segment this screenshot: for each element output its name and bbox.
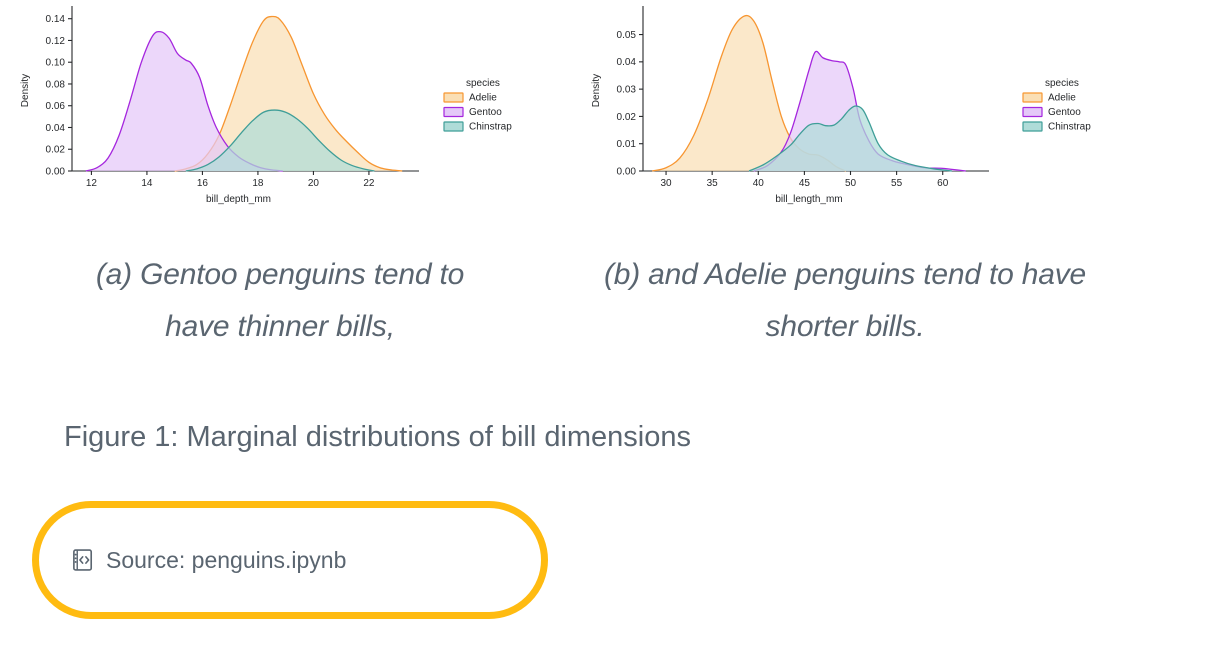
legend-label-chinstrap: Chinstrap (469, 122, 512, 133)
y-tick-label: 0.00 (46, 166, 66, 177)
y-axis-title: Density (20, 74, 31, 107)
x-tick-label: 18 (252, 178, 264, 189)
subfigure-bill-length: 0.000.010.020.030.040.0530354045505560bi… (575, 0, 1115, 215)
y-tick-label: 0.02 (617, 112, 637, 123)
notebook-code-icon (69, 547, 95, 573)
legend-label-chinstrap: Chinstrap (1048, 122, 1091, 133)
subcaption-b: (b) and Adelie penguins tend to have sho… (560, 249, 1130, 353)
y-tick-label: 0.00 (617, 166, 637, 177)
legend-swatch-gentoo (1023, 108, 1042, 117)
x-tick-label: 14 (141, 178, 153, 189)
legend-swatch-chinstrap (444, 122, 463, 131)
y-tick-label: 0.04 (46, 123, 66, 134)
x-tick-label: 30 (660, 178, 672, 189)
x-tick-label: 55 (891, 178, 903, 189)
legend-swatch-chinstrap (1023, 122, 1042, 131)
y-tick-label: 0.10 (46, 58, 66, 69)
x-tick-label: 22 (363, 178, 375, 189)
source-label: Source: penguins.ipynb (106, 547, 346, 574)
legend-label-adelie: Adelie (1048, 93, 1076, 104)
x-tick-label: 40 (753, 178, 765, 189)
legend-swatch-adelie (1023, 93, 1042, 102)
x-tick-label: 35 (707, 178, 719, 189)
y-tick-label: 0.04 (617, 57, 637, 68)
x-tick-label: 12 (86, 178, 98, 189)
figure-panels: 0.000.020.040.060.080.100.120.1412141618… (0, 0, 1215, 215)
y-tick-label: 0.01 (617, 139, 637, 150)
legend-title: species (466, 78, 500, 89)
x-tick-label: 60 (937, 178, 949, 189)
y-tick-label: 0.03 (617, 85, 637, 96)
y-axis-title: Density (591, 74, 602, 107)
legend-title: species (1045, 78, 1079, 89)
source-callout[interactable]: Source: penguins.ipynb (32, 501, 548, 619)
subcaption-row: (a) Gentoo penguins tend to have thinner… (0, 215, 1215, 353)
legend-label-adelie: Adelie (469, 93, 497, 104)
legend-label-gentoo: Gentoo (469, 107, 502, 118)
subfigure-bill-depth: 0.000.020.040.060.080.100.120.1412141618… (0, 0, 540, 215)
y-tick-label: 0.12 (46, 36, 66, 47)
legend-swatch-adelie (444, 93, 463, 102)
y-tick-label: 0.02 (46, 145, 66, 156)
x-tick-label: 45 (799, 178, 811, 189)
subcaption-a: (a) Gentoo penguins tend to have thinner… (0, 249, 560, 353)
y-tick-label: 0.05 (617, 30, 637, 41)
x-tick-label: 50 (845, 178, 857, 189)
y-tick-label: 0.08 (46, 79, 66, 90)
y-tick-label: 0.06 (46, 101, 66, 112)
legend-swatch-gentoo (444, 108, 463, 117)
x-axis-title: bill_length_mm (775, 194, 842, 205)
bill-length-kde-plot: 0.000.010.020.030.040.0530354045505560bi… (575, 0, 1115, 215)
y-tick-label: 0.14 (46, 14, 66, 25)
x-tick-label: 20 (308, 178, 320, 189)
x-axis-title: bill_depth_mm (206, 194, 271, 205)
figure-title: Figure 1: Marginal distributions of bill… (64, 421, 691, 454)
bill-depth-kde-plot: 0.000.020.040.060.080.100.120.1412141618… (0, 0, 540, 215)
legend-label-gentoo: Gentoo (1048, 107, 1081, 118)
x-tick-label: 16 (197, 178, 209, 189)
